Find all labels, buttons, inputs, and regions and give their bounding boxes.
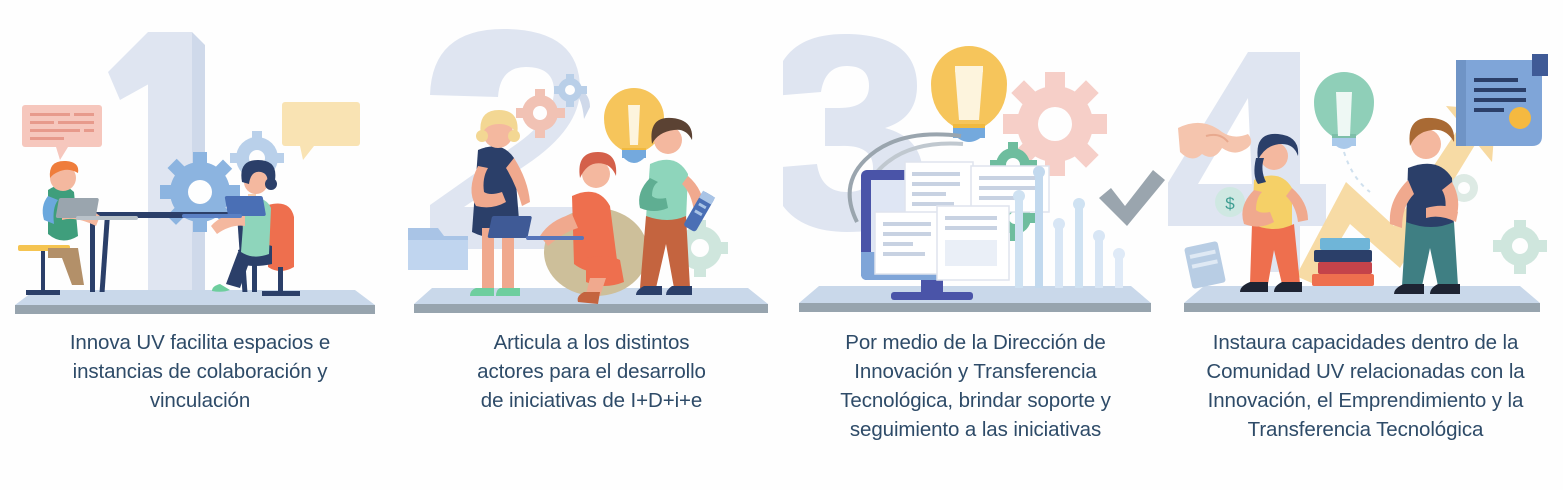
caption-line: Transferencia Tecnológica bbox=[1188, 415, 1543, 444]
step-card-3: Por medio de la Dirección de Innovación … bbox=[783, 0, 1168, 490]
caption-line: actores para el desarrollo bbox=[442, 357, 741, 386]
caption-line: Comunidad UV relacionadas con la bbox=[1188, 357, 1543, 386]
caption-line: Tecnológica, brindar soporte y bbox=[805, 386, 1146, 415]
step-3-illustration bbox=[783, 0, 1168, 320]
step-2-illustration bbox=[400, 0, 783, 320]
gear-mint-icon bbox=[1493, 220, 1547, 274]
person-man-laptop bbox=[18, 161, 138, 295]
speech-bubble-pink bbox=[22, 105, 102, 160]
caption-line: Innovación y Transferencia bbox=[805, 357, 1146, 386]
caption-line: Instaura capacidades dentro de la bbox=[1188, 328, 1543, 357]
caption-line: instancias de colaboración y bbox=[46, 357, 354, 386]
caption-line: vinculación bbox=[46, 386, 354, 415]
lightbulb-green-icon bbox=[1314, 72, 1374, 192]
platform-3 bbox=[799, 286, 1151, 312]
step-4-illustration: $ bbox=[1168, 0, 1563, 320]
big-number-4 bbox=[1168, 52, 1326, 272]
caption-line: de iniciativas de I+D+i+e bbox=[442, 386, 741, 415]
platform-4 bbox=[1184, 286, 1540, 312]
notepad-icon bbox=[1184, 241, 1226, 289]
certificate-scroll-icon bbox=[1456, 54, 1548, 146]
step-4-caption: Instaura capacidades dentro de la Comuni… bbox=[1168, 320, 1563, 444]
infographic-root: Innova UV facilita espacios e instancias… bbox=[0, 0, 1563, 490]
step-card-1: Innova UV facilita espacios e instancias… bbox=[0, 0, 400, 490]
book-stack bbox=[1312, 238, 1374, 286]
speech-bubble-yellow bbox=[282, 102, 360, 160]
step-3-caption: Por medio de la Dirección de Innovación … bbox=[783, 320, 1168, 444]
caption-line: Por medio de la Dirección de bbox=[805, 328, 1146, 357]
platform-1 bbox=[15, 290, 375, 314]
step-1-caption: Innova UV facilita espacios e instancias… bbox=[0, 320, 400, 415]
step-1-illustration bbox=[0, 0, 400, 320]
caption-line: Articula a los distintos bbox=[442, 328, 741, 357]
step-card-2: Articula a los distintos actores para el… bbox=[400, 0, 783, 490]
caption-line: seguimiento a las iniciativas bbox=[805, 415, 1146, 444]
caption-line: Innova UV facilita espacios e bbox=[46, 328, 354, 357]
person-woman-navy-dress bbox=[470, 110, 530, 296]
coin-dollar-icon: $ bbox=[1215, 187, 1245, 217]
checkmark-gray-icon bbox=[1099, 170, 1165, 226]
step-2-caption: Articula a los distintos actores para el… bbox=[400, 320, 783, 415]
lightbulb-yellow-icon bbox=[931, 46, 1007, 142]
svg-text:$: $ bbox=[1225, 194, 1235, 213]
step-card-4: $ bbox=[1168, 0, 1563, 490]
caption-line: Innovación, el Emprendimiento y la bbox=[1188, 386, 1543, 415]
